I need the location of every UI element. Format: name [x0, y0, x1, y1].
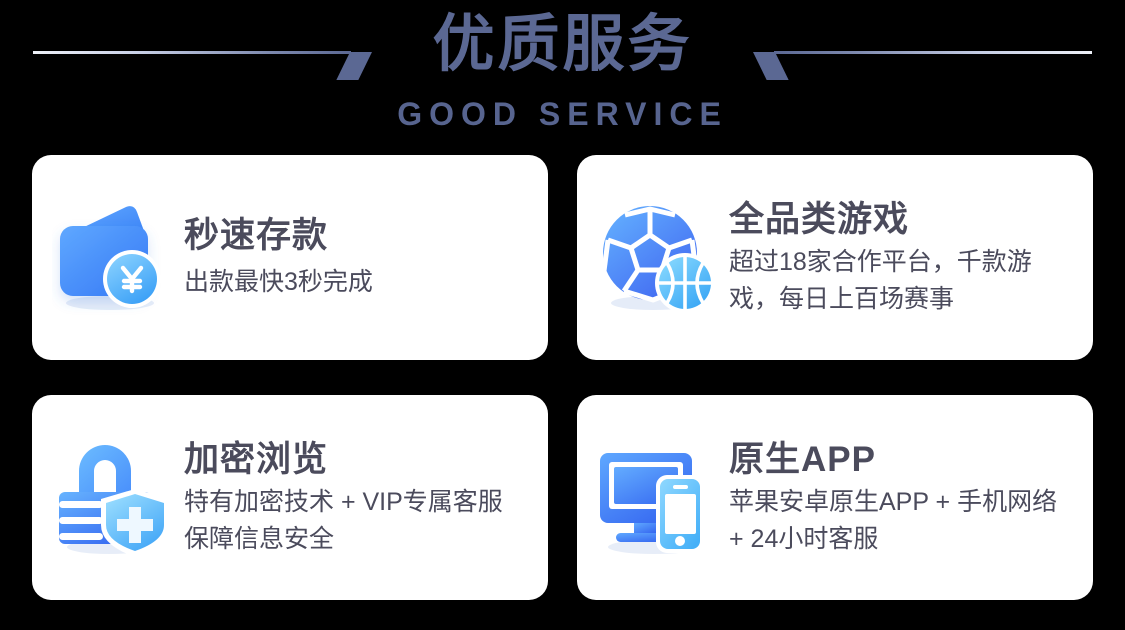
wallet-yen-coin-icon: [32, 155, 184, 360]
header: 优质服务 GOOD SERVICE: [0, 0, 1125, 148]
card-title: 原生APP: [729, 438, 1077, 482]
monitor-phone-icon: [577, 395, 729, 600]
page-subtitle: GOOD SERVICE: [0, 96, 1125, 132]
page-title: 优质服务: [0, 6, 1125, 84]
feature-card-all-category-games[interactable]: 全品类游戏 超过18家合作平台，千款游戏，每日上百场赛事: [577, 155, 1093, 360]
card-description: 出款最快3秒完成: [184, 264, 514, 301]
feature-card-native-app[interactable]: 原生APP 苹果安卓原生APP + 手机网络 + 24小时客服: [577, 395, 1093, 600]
card-title: 全品类游戏: [729, 198, 1077, 242]
card-title: 秒速存款: [184, 214, 532, 258]
card-text: 原生APP 苹果安卓原生APP + 手机网络 + 24小时客服: [729, 438, 1093, 558]
feature-card-grid: 秒速存款 出款最快3秒完成: [32, 155, 1093, 600]
soccer-basketball-icon: [577, 155, 729, 360]
card-description: 超过18家合作平台，千款游戏，每日上百场赛事: [729, 244, 1059, 318]
card-description: 苹果安卓原生APP + 手机网络 + 24小时客服: [729, 484, 1059, 558]
card-description: 特有加密技术 + VIP专属客服保障信息安全: [184, 484, 514, 558]
card-text: 全品类游戏 超过18家合作平台，千款游戏，每日上百场赛事: [729, 198, 1093, 318]
card-title: 加密浏览: [184, 438, 532, 482]
feature-card-instant-deposit[interactable]: 秒速存款 出款最快3秒完成: [32, 155, 548, 360]
card-text: 秒速存款 出款最快3秒完成: [184, 214, 548, 301]
feature-card-encrypted-browsing[interactable]: 加密浏览 特有加密技术 + VIP专属客服保障信息安全: [32, 395, 548, 600]
lock-shield-icon: [32, 395, 184, 600]
service-features-banner: 优质服务 GOOD SERVICE: [0, 0, 1125, 630]
card-text: 加密浏览 特有加密技术 + VIP专属客服保障信息安全: [184, 438, 548, 558]
